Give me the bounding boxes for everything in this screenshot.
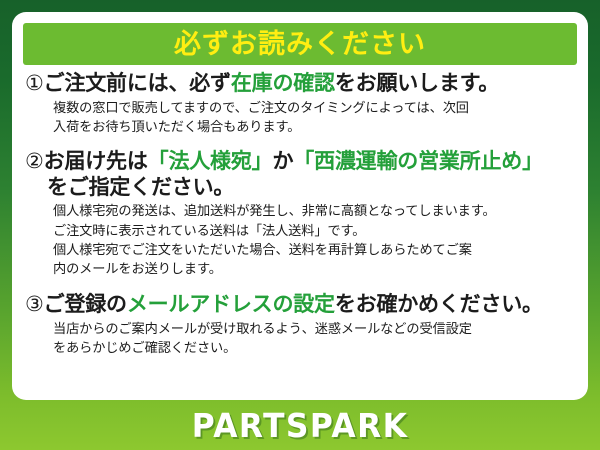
notice-panel: 必ずお読みください ①ご注文前には、必ず在庫の確認をお願いします。複数の窓口で販…	[12, 12, 588, 400]
notice-item-number: ①	[25, 71, 44, 95]
heading-text: をお確かめください。	[335, 292, 543, 316]
notice-item: ①ご注文前には、必ず在庫の確認をお願いします。複数の窓口で販売してますので、ご注…	[25, 71, 575, 137]
notice-item-heading-line2: をご指定ください。	[25, 175, 575, 201]
highlighted-phrase: 「西濃運輸の営業所止め」	[293, 149, 543, 173]
notice-item-number: ②	[25, 149, 44, 173]
notice-item-body: 当店からのご案内メールが受け取れるよう、迷惑メールなどの受信設定をあらかじめご確…	[25, 320, 575, 359]
heading-text: をお願いします。	[335, 71, 499, 95]
heading-text: ご登録の	[44, 292, 127, 316]
notice-item: ②お届け先は「法人様宛」か「西濃運輸の営業所止め」をご指定ください。個人様宅宛の…	[25, 149, 575, 279]
notice-body-line: 複数の窓口で販売してますので、ご注文のタイミングによっては、次回	[53, 99, 575, 118]
notice-item-body: 複数の窓口で販売してますので、ご注文のタイミングによっては、次回入荷をお待ち頂い…	[25, 99, 575, 138]
highlighted-phrase: 「法人様宛」	[148, 149, 273, 173]
notice-title-banner: 必ずお読みください	[23, 23, 577, 65]
notice-item-heading: ①ご注文前には、必ず在庫の確認をお願いします。	[25, 71, 575, 97]
notice-body-line: ご注文時に表示されている送料は「法人送料」です。	[53, 222, 575, 241]
notice-body-line: 個人様宅宛でご注文をいただいた場合、送料を再計算しあらためてご案	[53, 241, 575, 260]
notice-body-line: 内のメールをお送りします。	[53, 260, 575, 279]
notice-body-line: 個人様宅宛の発送は、追加送料が発生し、非常に高額となってしまいます。	[53, 202, 575, 221]
notice-body-line: 入荷をお待ち頂いただく場合もあります。	[53, 118, 575, 137]
notice-item-number: ③	[25, 292, 44, 316]
notice-item-heading: ③ご登録のメールアドレスの設定をお確かめください。	[25, 292, 575, 318]
notice-item: ③ご登録のメールアドレスの設定をお確かめください。当店からのご案内メールが受け取…	[25, 292, 575, 358]
highlighted-phrase: メールアドレスの設定	[127, 292, 335, 316]
notice-item-heading: ②お届け先は「法人様宛」か「西濃運輸の営業所止め」をご指定ください。	[25, 149, 575, 200]
notice-item-body: 個人様宅宛の発送は、追加送料が発生し、非常に高額となってしまいます。ご注文時に表…	[25, 202, 575, 279]
notice-list: ①ご注文前には、必ず在庫の確認をお願いします。複数の窓口で販売してますので、ご注…	[23, 65, 577, 359]
footer-band: PARTSPARK	[0, 400, 600, 450]
heading-text: か	[272, 149, 293, 173]
highlighted-phrase: 在庫の確認	[231, 71, 335, 95]
notice-title: 必ずお読みください	[174, 31, 426, 58]
heading-text: お届け先は	[44, 149, 148, 173]
notice-body-line: をあらかじめご確認ください。	[53, 339, 575, 358]
brand-logo: PARTSPARK	[192, 406, 409, 445]
notice-banner: 必ずお読みください ①ご注文前には、必ず在庫の確認をお願いします。複数の窓口で販…	[0, 0, 600, 450]
heading-text: ご注文前には、必ず	[44, 71, 231, 95]
notice-body-line: 当店からのご案内メールが受け取れるよう、迷惑メールなどの受信設定	[53, 320, 575, 339]
